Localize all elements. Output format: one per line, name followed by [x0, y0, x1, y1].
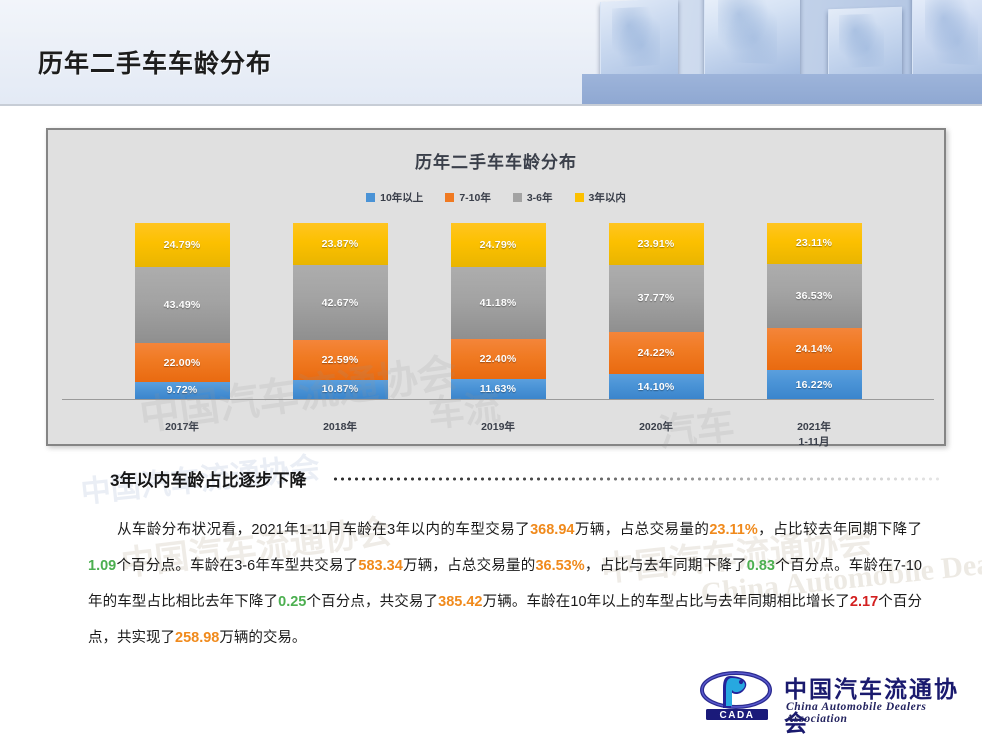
highlighted-figure: 0.25: [278, 594, 306, 610]
x-axis-tick-label: 2017年: [135, 420, 230, 450]
highlighted-figure: 36.53%: [535, 558, 584, 574]
highlighted-figure: 1.09: [88, 558, 116, 574]
bar-column[interactable]: 23.11%36.53%24.14%16.22%: [767, 223, 862, 399]
x-axis-tick-label: 2021年1-11月: [767, 420, 862, 450]
bar-segment[interactable]: 24.79%: [451, 223, 546, 267]
cada-bird-logo-icon: CADA: [700, 670, 778, 720]
svg-text:CADA: CADA: [720, 710, 755, 720]
bar-segment[interactable]: 24.14%: [767, 328, 862, 370]
legend-swatch-icon: [513, 193, 522, 202]
bar-segment[interactable]: 23.91%: [609, 223, 704, 265]
bar-column[interactable]: 24.79%41.18%22.40%11.63%: [451, 223, 546, 399]
body-text-run: 万辆，占总交易量的: [403, 558, 536, 574]
body-paragraph: 从车龄分布状况看，2021年1-11月车龄在3年以内的车型交易了368.94万辆…: [88, 512, 922, 656]
chart-title: 历年二手车车龄分布: [48, 148, 944, 173]
bar-column[interactable]: 23.91%37.77%24.22%14.10%: [609, 223, 704, 399]
chart-plot-area: 24.79%43.49%22.00%9.72%23.87%42.67%22.59…: [48, 216, 948, 416]
bar-segment[interactable]: 37.77%: [609, 265, 704, 331]
legend-swatch-icon: [445, 193, 454, 202]
highlighted-figure: 368.94: [530, 522, 574, 538]
bar-segment[interactable]: 23.11%: [767, 223, 862, 264]
chart-baseline-axis: [62, 399, 934, 400]
chart-legend: 10年以上7-10年3-6年3年以内: [48, 190, 944, 205]
legend-swatch-icon: [575, 193, 584, 202]
chart-x-axis: 2017年2018年2019年2020年2021年1-11月: [48, 420, 948, 450]
bar-segment[interactable]: 36.53%: [767, 264, 862, 328]
legend-item-2[interactable]: 3-6年: [513, 190, 553, 205]
legend-swatch-icon: [366, 193, 375, 202]
x-axis-tick-label: 2019年: [451, 420, 546, 450]
highlighted-figure: 385.42: [438, 594, 482, 610]
body-text-run: 个百分点。车龄在3-6年车型共交易了: [116, 558, 358, 574]
cada-logo: CADA 中国汽车流通协会 China Automobile Dealers A…: [700, 668, 972, 726]
bar-segment[interactable]: 24.79%: [135, 223, 230, 267]
highlighted-figure: 23.11%: [709, 522, 757, 538]
bar-column[interactable]: 24.79%43.49%22.00%9.72%: [135, 223, 230, 399]
bar-segment[interactable]: 16.22%: [767, 370, 862, 399]
legend-label: 10年以上: [380, 190, 423, 205]
page-title: 历年二手车车龄分布: [38, 44, 272, 80]
bar-segment[interactable]: 22.40%: [451, 339, 546, 378]
body-text-run: 从车龄分布状况看，2021年1-11月车龄在3年以内的车型交易了: [117, 522, 530, 538]
legend-item-0[interactable]: 10年以上: [366, 190, 423, 205]
legend-item-3[interactable]: 3年以内: [575, 190, 626, 205]
body-text-run: 个百分点，共交易了: [306, 594, 438, 610]
page-header: 历年二手车车龄分布: [0, 0, 982, 104]
x-axis-tick-label: 2020年: [609, 420, 704, 450]
bar-segment[interactable]: 22.00%: [135, 343, 230, 382]
body-text-run: ，占比与去年同期下降了: [585, 558, 747, 574]
bar-segment[interactable]: 22.59%: [293, 340, 388, 380]
bar-segment[interactable]: 23.87%: [293, 223, 388, 265]
highlighted-figure: 258.98: [175, 630, 219, 646]
bar-segment[interactable]: 41.18%: [451, 267, 546, 339]
highlighted-figure: 2.17: [850, 594, 878, 610]
bar-segment[interactable]: 9.72%: [135, 382, 230, 399]
chart-panel: 历年二手车车龄分布 10年以上7-10年3-6年3年以内 24.79%43.49…: [46, 128, 946, 446]
bar-segment[interactable]: 10.87%: [293, 380, 388, 399]
body-text-run: 万辆，占总交易量的: [574, 522, 709, 538]
body-text-run: 万辆。车龄在10年以上的车型占比与去年同期相比增长了: [483, 594, 850, 610]
legend-item-1[interactable]: 7-10年: [445, 190, 491, 205]
stacked-bar-group: 24.79%43.49%22.00%9.72%23.87%42.67%22.59…: [48, 223, 948, 399]
cube-stack-icon: [582, 0, 982, 104]
bar-segment[interactable]: 24.22%: [609, 332, 704, 375]
logo-name-en: China Automobile Dealers Association: [786, 701, 972, 725]
bar-segment[interactable]: 43.49%: [135, 267, 230, 344]
header-divider: [0, 104, 982, 106]
dotted-rule: [332, 477, 940, 481]
bar-segment[interactable]: 11.63%: [451, 379, 546, 399]
x-axis-tick-label: 2018年: [293, 420, 388, 450]
legend-label: 3年以内: [589, 190, 626, 205]
legend-label: 3-6年: [527, 190, 553, 205]
section-subheading-row: 3年以内车龄占比逐步下降: [110, 466, 940, 491]
body-text-run: ，占比较去年同期下降了: [758, 522, 922, 538]
bar-column[interactable]: 23.87%42.67%22.59%10.87%: [293, 223, 388, 399]
legend-label: 7-10年: [459, 190, 491, 205]
bar-segment[interactable]: 42.67%: [293, 265, 388, 340]
section-subheading: 3年以内车龄占比逐步下降: [110, 466, 306, 491]
body-text-run: 万辆的交易。: [219, 630, 306, 646]
highlighted-figure: 583.34: [358, 558, 402, 574]
highlighted-figure: 0.83: [747, 558, 775, 574]
bar-segment[interactable]: 14.10%: [609, 374, 704, 399]
